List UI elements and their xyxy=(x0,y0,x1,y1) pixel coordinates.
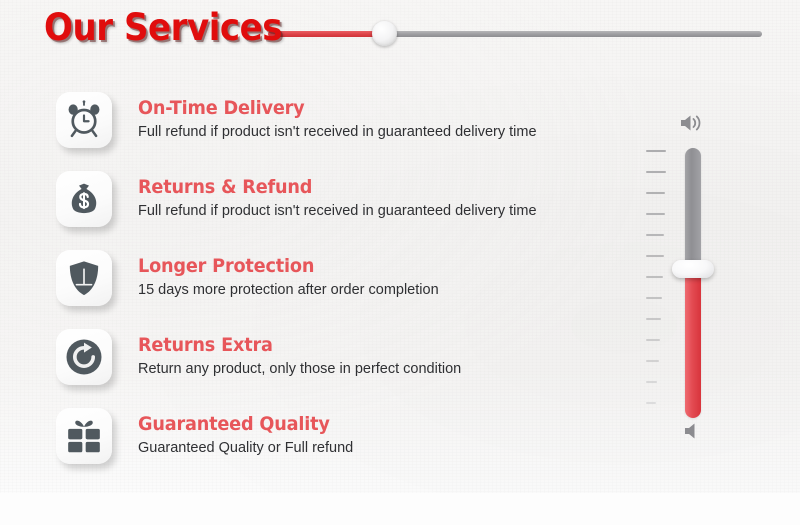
volume-slider-track[interactable] xyxy=(685,148,701,418)
list-item-heading: Longer Protection xyxy=(138,256,418,277)
return-arrow-icon xyxy=(56,329,112,385)
list-item-text: Longer Protection 15 days more protectio… xyxy=(138,256,439,299)
list-item[interactable]: Longer Protection 15 days more protectio… xyxy=(0,238,640,317)
speaker-volume-up-icon[interactable] xyxy=(678,112,704,139)
list-item-description: Full refund if product isn't received in… xyxy=(138,124,537,141)
page-title: Our Services xyxy=(44,6,282,49)
list-item-description: Return any product, only those in perfec… xyxy=(138,361,461,378)
progress-slider-knob[interactable] xyxy=(372,21,397,46)
list-item-description: Full refund if product isn't received in… xyxy=(138,203,537,220)
list-item-text: Guaranteed Quality Guaranteed Quality or… xyxy=(138,414,353,457)
money-bag-icon xyxy=(56,171,112,227)
volume-slider[interactable] xyxy=(640,112,750,462)
volume-slider-knob[interactable] xyxy=(672,260,714,278)
shield-icon xyxy=(56,250,112,306)
list-item-heading: On-Time Delivery xyxy=(138,98,509,119)
list-item-heading: Guaranteed Quality xyxy=(138,414,338,435)
alarm-clock-icon xyxy=(56,92,112,148)
list-item-description: 15 days more protection after order comp… xyxy=(138,282,439,299)
list-item[interactable]: Returns & Refund Full refund if product … xyxy=(0,159,640,238)
list-item[interactable]: On-Time Delivery Full refund if product … xyxy=(0,80,640,159)
list-item[interactable]: Guaranteed Quality Guaranteed Quality or… xyxy=(0,396,640,475)
list-item-description: Guaranteed Quality or Full refund xyxy=(138,440,353,457)
volume-tick-marks xyxy=(646,150,672,422)
services-banner: Our Services xyxy=(0,0,800,525)
list-item-text: Returns Extra Return any product, only t… xyxy=(138,335,461,378)
progress-slider-fill xyxy=(268,31,384,37)
progress-slider[interactable] xyxy=(268,30,762,38)
services-list: On-Time Delivery Full refund if product … xyxy=(0,80,640,475)
list-item-heading: Returns & Refund xyxy=(138,177,509,198)
volume-slider-track-fill xyxy=(685,267,701,418)
volume-slider-track-empty xyxy=(685,148,701,267)
list-item-text: Returns & Refund Full refund if product … xyxy=(138,177,537,220)
speaker-volume-down-icon[interactable] xyxy=(682,420,700,447)
list-item-heading: Returns Extra xyxy=(138,335,439,356)
gift-box-icon xyxy=(56,408,112,464)
progress-slider-track xyxy=(384,31,762,37)
list-item-text: On-Time Delivery Full refund if product … xyxy=(138,98,537,141)
list-item[interactable]: Returns Extra Return any product, only t… xyxy=(0,317,640,396)
